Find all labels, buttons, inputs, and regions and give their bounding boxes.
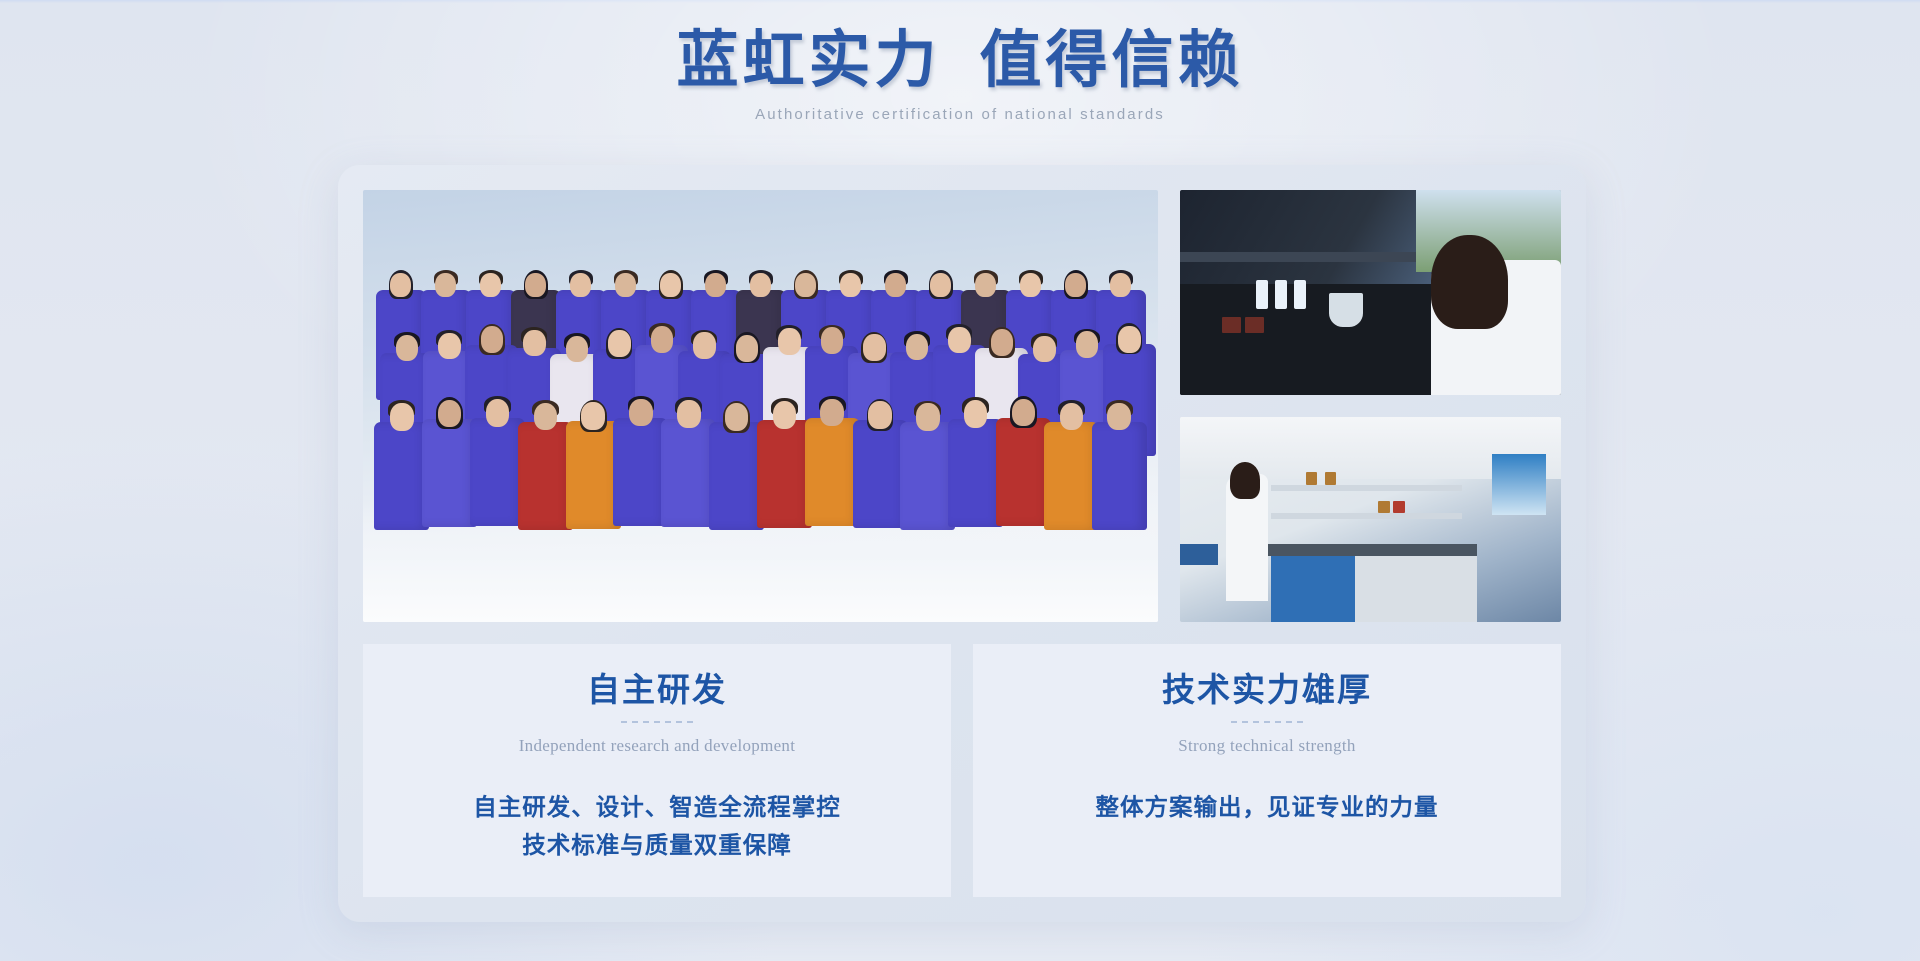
card-subtitle: Independent research and development (383, 736, 931, 756)
page-subtitle: Authoritative certification of national … (0, 106, 1920, 123)
page-title: 蓝虹实力 值得信赖 (0, 24, 1920, 98)
team-crowd-illustration (363, 268, 1158, 513)
feature-card-independent-rd: 自主研发 Independent research and developmen… (363, 644, 951, 897)
dotted-divider-icon (383, 721, 931, 723)
lab-technician-photo (1180, 190, 1561, 395)
content-panel: 自主研发 Independent research and developmen… (338, 165, 1586, 922)
card-subtitle: Strong technical strength (993, 736, 1541, 756)
side-photo-column (1180, 190, 1561, 622)
laboratory-room-photo (1180, 417, 1561, 622)
dotted-divider-icon (993, 721, 1541, 723)
card-title: 自主研发 (383, 670, 931, 712)
card-title: 技术实力雄厚 (993, 670, 1541, 712)
gallery (363, 190, 1561, 622)
team-group-photo (363, 190, 1158, 622)
feature-card-list: 自主研发 Independent research and developmen… (363, 644, 1561, 897)
page-header: 蓝虹实力 值得信赖 Authoritative certification of… (0, 24, 1920, 123)
card-description: 自主研发、设计、智造全流程掌控 技术标准与质量双重保障 (383, 789, 931, 865)
card-description: 整体方案输出，见证专业的力量 (993, 789, 1541, 827)
feature-card-technical-strength: 技术实力雄厚 Strong technical strength 整体方案输出，… (973, 644, 1561, 897)
